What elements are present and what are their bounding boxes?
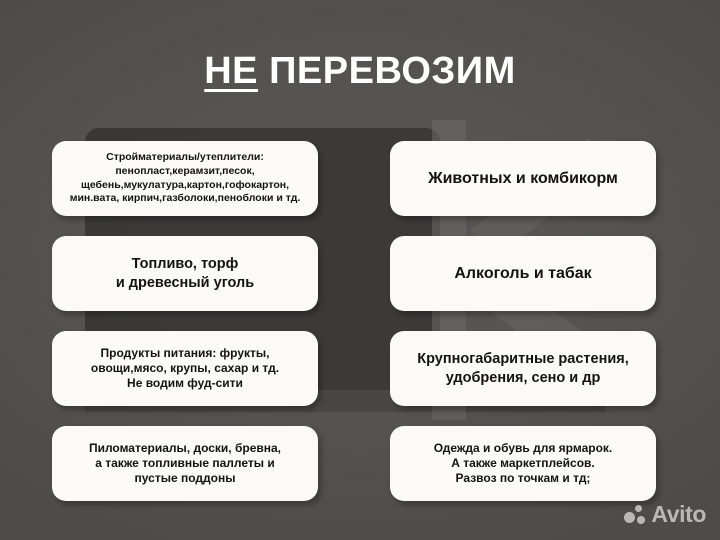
- page-title-text: НЕ ПЕРЕВОЗИМ: [204, 52, 516, 90]
- card-text: Одежда и обувь для ярмарок. А также марк…: [434, 441, 613, 486]
- page-title-prefix: НЕ: [204, 50, 258, 92]
- card-text: Алкоголь и табак: [454, 264, 591, 284]
- card-lumber-pallets: Пиломатериалы, доски, бревна, а также то…: [52, 426, 318, 501]
- card-text: Стройматериалы/утеплители: пенопласт,кер…: [70, 151, 301, 206]
- poster-canvas: НЕ ПЕРЕВОЗИМ Стройматериалы/утеплители: …: [0, 0, 720, 540]
- card-text: Продукты питания: фрукты, овощи,мясо, кр…: [91, 346, 279, 391]
- card-text: Пиломатериалы, доски, бревна, а также то…: [89, 441, 281, 486]
- card-text: Крупногабаритные растения, удобрения, се…: [417, 350, 629, 386]
- page-title-rest: ПЕРЕВОЗИМ: [258, 50, 516, 92]
- card-text: Животных и комбикорм: [428, 169, 618, 189]
- avito-dots-icon: [624, 505, 646, 525]
- card-animals-feed: Животных и комбикорм: [390, 141, 656, 216]
- card-text: Топливо, торф и древесный уголь: [116, 255, 254, 291]
- card-clothing-footwear: Одежда и обувь для ярмарок. А также марк…: [390, 426, 656, 501]
- prohibited-items-grid: Стройматериалы/утеплители: пенопласт,кер…: [52, 141, 656, 491]
- card-oversized-plants: Крупногабаритные растения, удобрения, се…: [390, 331, 656, 406]
- card-fuel-peat-charcoal: Топливо, торф и древесный уголь: [52, 236, 318, 311]
- card-food-products: Продукты питания: фрукты, овощи,мясо, кр…: [52, 331, 318, 406]
- avito-wordmark: Avito: [651, 503, 706, 526]
- card-alcohol-tobacco: Алкоголь и табак: [390, 236, 656, 311]
- page-title: НЕ ПЕРЕВОЗИМ: [0, 52, 720, 90]
- card-construction-materials: Стройматериалы/утеплители: пенопласт,кер…: [52, 141, 318, 216]
- avito-watermark: Avito: [624, 503, 706, 526]
